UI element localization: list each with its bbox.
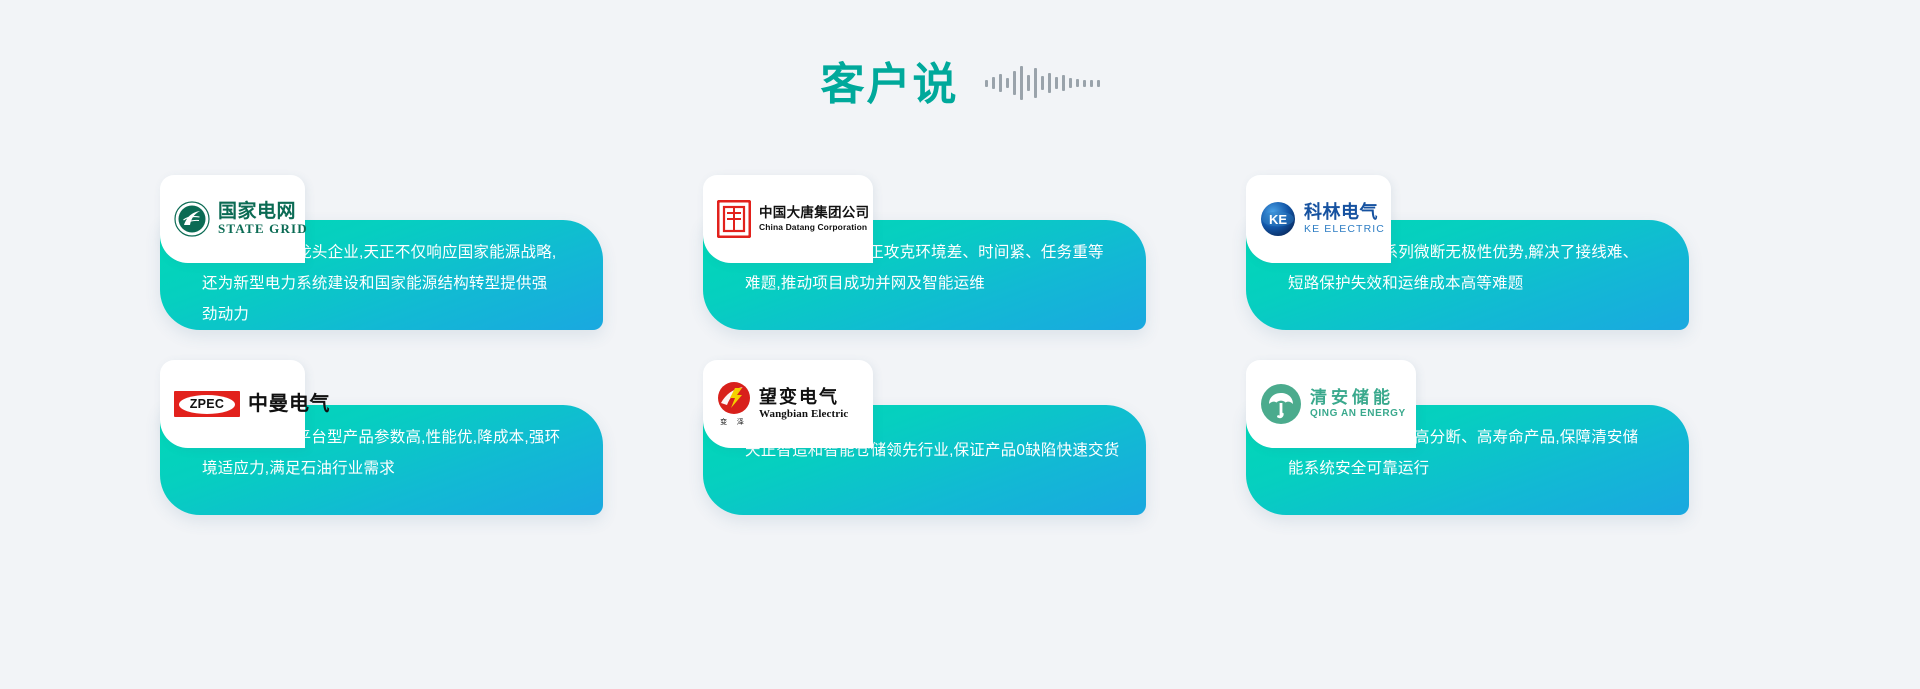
waveform-bar <box>1013 71 1016 95</box>
waveform-bar <box>1041 76 1044 90</box>
testimonial-card-china-datang[interactable]: 中国大唐集团公司 China Datang Corporation 6个月项目周… <box>703 175 1146 330</box>
logo-name-cn: 国家电网 <box>218 202 308 222</box>
logo-name-en: China Datang Corporation <box>759 223 869 232</box>
waveform-bar <box>1062 75 1065 91</box>
waveform-bar <box>1069 78 1072 88</box>
logo-panel-wangbian: 变 泽 望变电气 Wangbian Electric <box>703 360 873 448</box>
waveform-bar <box>1090 80 1093 87</box>
ke-electric-circle-icon: KE <box>1260 201 1296 237</box>
qingan-umbrella-icon <box>1260 383 1302 425</box>
testimonial-card-ke-electric[interactable]: KE 科林电气 KE ELECTRIC 天正NEXTG3系列微断无极性优势,解决… <box>1246 175 1689 330</box>
waveform-bar <box>1048 73 1051 93</box>
logo-name-en: STATE GRID <box>218 222 308 236</box>
waveform-bar <box>1006 78 1009 88</box>
logo-name-cn: 中曼电气 <box>248 394 330 415</box>
testimonial-card-state-grid[interactable]: 国家电网 STATE GRID 作为电气行业龙头企业,天正不仅响应国家能源战略,… <box>160 175 603 330</box>
logo-name-cn: 科林电气 <box>1304 203 1385 222</box>
page-title: 客户说 <box>821 63 959 107</box>
state-grid-globe-icon <box>174 201 210 237</box>
zpec-mark-text: ZPEC <box>179 395 235 414</box>
logo-panel-qingan: 清安储能 QING AN ENERGY <box>1246 360 1416 448</box>
waveform-bar <box>1083 80 1086 87</box>
logo-panel-ke-electric: KE 科林电气 KE ELECTRIC <box>1246 175 1391 263</box>
waveform-bar <box>1055 77 1058 89</box>
waveform-bar <box>1097 80 1100 87</box>
wangbian-mark-text: 变 泽 <box>720 417 748 427</box>
logo-panel-zpec: ZPEC 中曼电气 <box>160 360 305 448</box>
waveform-bar <box>992 77 995 89</box>
datang-seal-icon <box>717 200 751 238</box>
logo-panel-china-datang: 中国大唐集团公司 China Datang Corporation <box>703 175 873 263</box>
section-header: 客户说 <box>0 63 1920 107</box>
logo-panel-state-grid: 国家电网 STATE GRID <box>160 175 305 263</box>
logo-name-cn: 清安储能 <box>1310 389 1406 407</box>
logo-name-cn: 望变电气 <box>759 388 848 407</box>
logo-name-en: KE ELECTRIC <box>1304 224 1385 235</box>
waveform-bar <box>1020 66 1023 100</box>
audio-waveform-icon <box>985 63 1100 103</box>
testimonial-card-qingan[interactable]: 清安储能 QING AN ENERGY 天正NEXTG3系列高分断、高寿命产品,… <box>1246 360 1689 515</box>
testimonial-card-zpec[interactable]: ZPEC 中曼电气 TG3系列行业平台型产品参数高,性能优,降成本,强环境适应力… <box>160 360 603 515</box>
testimonial-card-wangbian[interactable]: 变 泽 望变电气 Wangbian Electric 天正智造和智能仓储领先行业… <box>703 360 1146 515</box>
testimonial-card-grid: 国家电网 STATE GRID 作为电气行业龙头企业,天正不仅响应国家能源战略,… <box>160 175 1770 515</box>
logo-name-en: QING AN ENERGY <box>1310 409 1406 420</box>
customer-testimonials-section: 客户说 国家电网 STATE GRID <box>0 0 1920 689</box>
waveform-bar <box>1034 68 1037 98</box>
waveform-bar <box>999 74 1002 92</box>
svg-text:KE: KE <box>1269 212 1287 227</box>
logo-name-cn: 中国大唐集团公司 <box>759 206 869 220</box>
wangbian-circle-icon <box>717 381 751 415</box>
waveform-bar <box>985 80 988 87</box>
logo-name-en: Wangbian Electric <box>759 409 848 421</box>
waveform-bar <box>1076 79 1079 87</box>
waveform-bar <box>1027 75 1030 91</box>
zpec-badge-icon: ZPEC <box>174 391 240 417</box>
